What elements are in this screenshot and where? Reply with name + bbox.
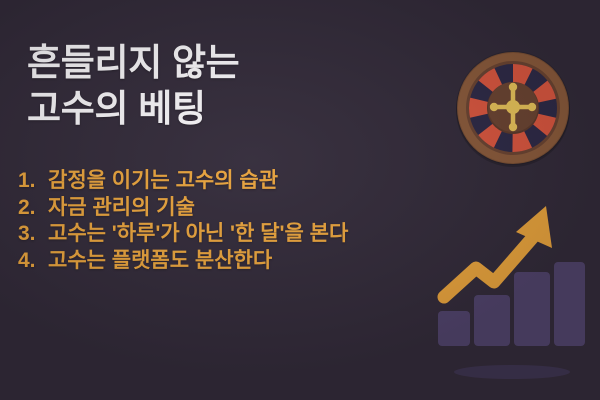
list-item-label: 고수는 '하루'가 아닌 '한 달'을 본다 <box>48 221 348 248</box>
list-item-number: 1. <box>18 168 48 195</box>
title-line-2: 고수의 베팅 <box>27 86 427 132</box>
list-item-label: 고수는 플랫폼도 분산한다 <box>48 248 272 275</box>
growth-bar-chart <box>430 196 585 381</box>
list-item: 4. 고수는 플랫폼도 분산한다 <box>18 248 498 275</box>
bar-4 <box>554 262 585 346</box>
list-item: 2. 자금 관리의 기술 <box>18 195 498 222</box>
list-item-number: 4. <box>18 248 48 275</box>
chart-shadow <box>454 365 570 379</box>
roulette-wheel-icon <box>453 48 573 168</box>
list-item-number: 3. <box>18 221 48 248</box>
page-title: 흔들리지 않는 고수의 베팅 <box>27 40 427 132</box>
numbered-list: 1. 감정을 이기는 고수의 습관 2. 자금 관리의 기술 3. 고수는 '하… <box>18 168 498 274</box>
bar-2 <box>474 295 510 346</box>
bar-3 <box>514 272 550 346</box>
list-item: 1. 감정을 이기는 고수의 습관 <box>18 168 498 195</box>
list-item-label: 자금 관리의 기술 <box>48 195 195 222</box>
bar-1 <box>438 311 470 346</box>
list-item: 3. 고수는 '하루'가 아닌 '한 달'을 본다 <box>18 221 498 248</box>
title-line-1: 흔들리지 않는 <box>27 40 427 86</box>
list-item-number: 2. <box>18 195 48 222</box>
list-item-label: 감정을 이기는 고수의 습관 <box>48 168 278 195</box>
poster-canvas: 흔들리지 않는 고수의 베팅 1. 감정을 이기는 고수의 습관 2. 자금 관… <box>0 0 600 400</box>
